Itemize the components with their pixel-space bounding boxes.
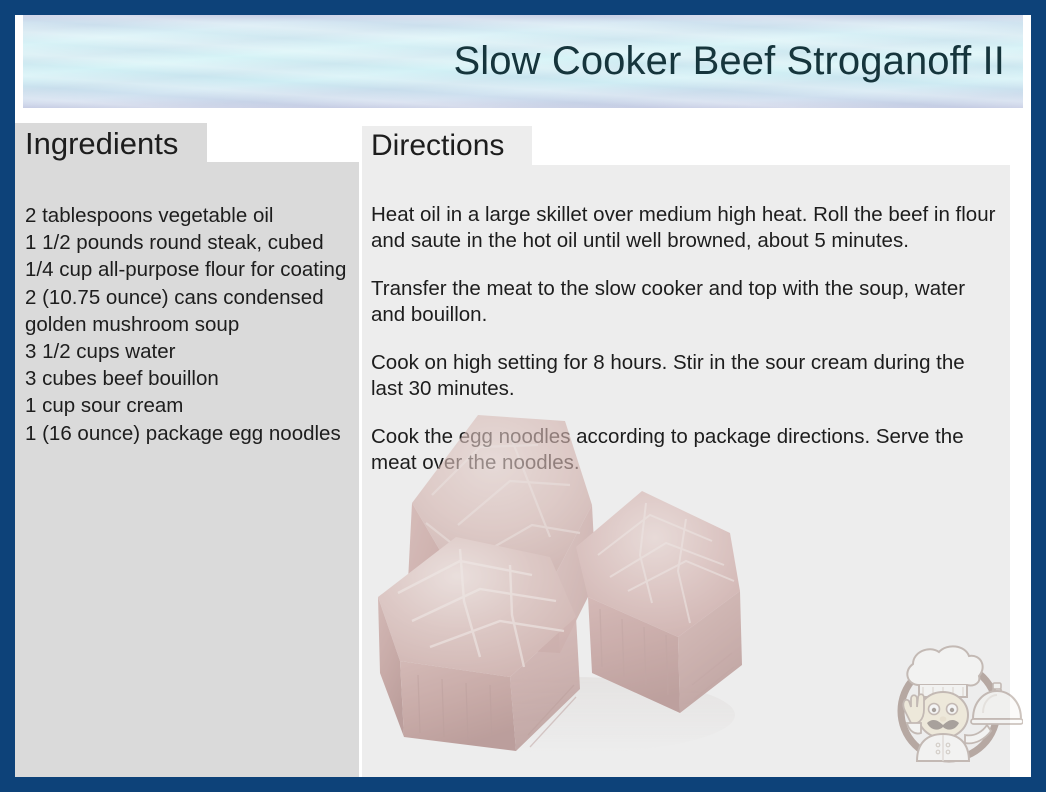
direction-step: Heat oil in a large skillet over medium …: [371, 202, 999, 254]
direction-step: Cook on high setting for 8 hours. Stir i…: [371, 350, 999, 402]
directions-panel: Heat oil in a large skillet over medium …: [362, 165, 1010, 777]
page-title: Slow Cooker Beef Stroganoff II: [454, 39, 1005, 83]
ingredient-item: 3 cubes beef bouillon: [25, 365, 359, 392]
ingredients-list: 2 tablespoons vegetable oil 1 1/2 pounds…: [25, 202, 359, 447]
direction-step: Transfer the meat to the slow cooker and…: [371, 276, 999, 328]
ingredient-item: 3 1/2 cups water: [25, 338, 359, 365]
directions-heading: Directions: [371, 126, 504, 165]
header-banner: Slow Cooker Beef Stroganoff II: [23, 15, 1023, 108]
ingredients-heading-box: Ingredients: [15, 123, 207, 164]
ingredient-item: 2 (10.75 ounce) cans condensed golden mu…: [25, 284, 359, 338]
directions-list: Heat oil in a large skillet over medium …: [371, 202, 999, 476]
directions-heading-box: Directions: [362, 126, 532, 165]
ingredient-item: 1 cup sour cream: [25, 392, 359, 419]
recipe-page: Slow Cooker Beef Stroganoff II 2 tablesp…: [15, 15, 1031, 777]
ingredient-item: 2 tablespoons vegetable oil: [25, 202, 359, 229]
ingredients-panel: 2 tablespoons vegetable oil 1 1/2 pounds…: [15, 162, 359, 777]
ingredients-heading: Ingredients: [25, 123, 178, 164]
ingredient-item: 1 (16 ounce) package egg noodles: [25, 420, 359, 447]
direction-step: Cook the egg noodles according to packag…: [371, 424, 999, 476]
recipe-card: Slow Cooker Beef Stroganoff II 2 tablesp…: [0, 0, 1046, 792]
ingredient-item: 1/4 cup all-purpose flour for coating: [25, 256, 359, 283]
ingredient-item: 1 1/2 pounds round steak, cubed: [25, 229, 359, 256]
